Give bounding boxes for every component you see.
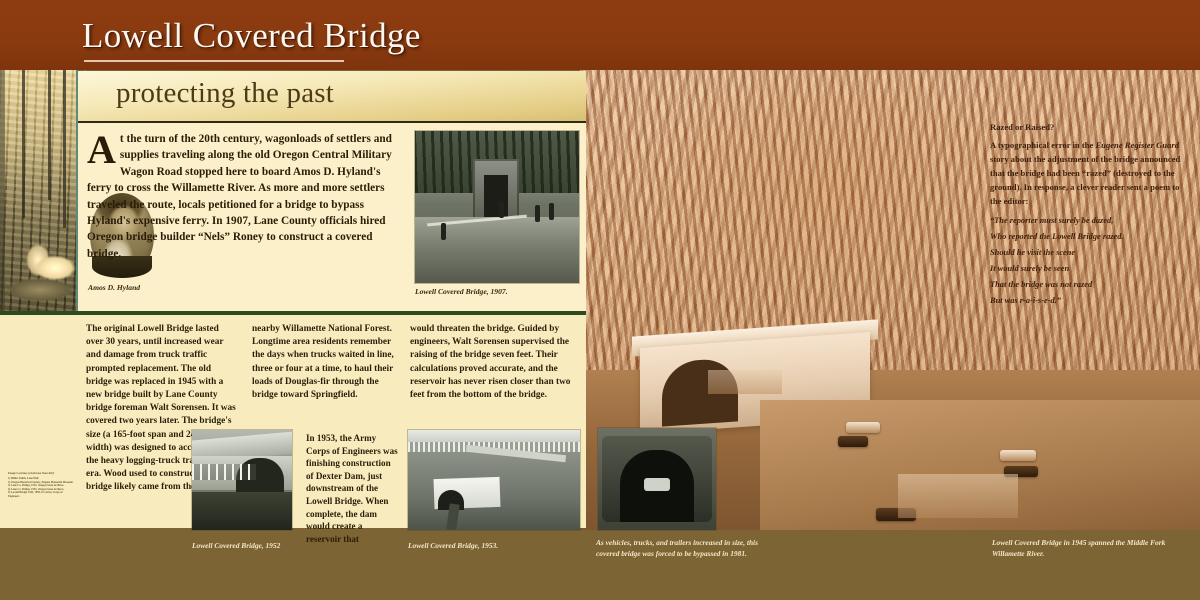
photo-1981-caption: As vehicles, trucks, and trailers increa… <box>596 538 776 559</box>
intro-paragraph: At the turn of the 20th century, wagonlo… <box>87 131 397 262</box>
poem-line: Should he visit the scene <box>990 246 1190 260</box>
subtitle: protecting the past <box>116 77 334 110</box>
poem-line: That the bridge was not razed <box>990 278 1190 292</box>
bridge-deck <box>415 217 579 283</box>
portrait-caption: Amos D. Hyland <box>88 283 140 292</box>
bridge-portal-photo-1981 <box>598 428 716 530</box>
intro-panel: At the turn of the 20th century, wagonlo… <box>78 123 586 311</box>
bridge-photo-1953 <box>408 430 580 530</box>
person-figure <box>499 201 504 218</box>
vehicle <box>846 422 880 433</box>
vehicle <box>1000 450 1036 461</box>
poem-line: But was r-a-i-s-e-d.” <box>990 294 1190 308</box>
newspaper-name: Eugene Register Guard <box>1095 140 1179 150</box>
poem-line: “The reporter must surely be dazed, <box>990 214 1190 228</box>
bridge-portal-1907 <box>473 159 519 219</box>
razed-heading: Razed or Raised? <box>990 122 1190 132</box>
credits-title: Image Courtesy (clockwise from left): <box>8 472 74 476</box>
body-column-3: would threaten the bridge. Guided by eng… <box>410 323 572 402</box>
poem-line: Who reported the Lowell Bridge razed. <box>990 230 1190 244</box>
dexter-dam-inset-text: In 1953, the Army Corps of Engineers was… <box>300 428 404 528</box>
photo-1953-caption: Lowell Covered Bridge, 1953. <box>408 541 498 550</box>
interpretive-sign-panel: Lowell Covered Bridge protecting the pas… <box>0 0 1200 600</box>
person-figure <box>535 205 540 222</box>
bridge-photo-1907 <box>415 131 579 283</box>
header-bar: Lowell Covered Bridge <box>0 0 1200 70</box>
camp-scene-photo <box>0 68 78 312</box>
reader-poem: “The reporter must surely be dazed, Who … <box>990 214 1190 308</box>
vehicle <box>838 436 868 447</box>
drop-cap: A <box>87 131 120 166</box>
building <box>898 474 1018 518</box>
bridge-railing-1952 <box>192 464 256 480</box>
photo-1907-caption: Lowell Covered Bridge, 1907. <box>415 287 508 296</box>
bridge-photo-1952 <box>192 430 292 530</box>
photo-1952-caption: Lowell Covered Bridge, 1952 <box>192 541 280 550</box>
intro-text: t the turn of the 20th century, wagonloa… <box>87 133 392 260</box>
photo-big-caption: Lowell Covered Bridge in 1945 spanned th… <box>992 538 1192 559</box>
vehicle-in-portal <box>644 478 670 491</box>
poem-line: It would surely be seen <box>990 262 1190 276</box>
subtitle-band: protecting the past <box>78 71 586 123</box>
person-figure <box>549 203 554 220</box>
person-figure <box>441 223 446 240</box>
razed-body-part2: story about the adjustment of the bridge… <box>990 154 1180 206</box>
razed-body: A typographical error in the Eugene Regi… <box>990 138 1190 208</box>
title-underline <box>84 60 344 62</box>
image-credits-block: Image Courtesy (clockwise from left): 1)… <box>8 472 74 499</box>
building <box>708 370 782 394</box>
credit-line: 5) Lowell Bridge 1945, 1958, US Army Cor… <box>8 491 74 498</box>
page-title: Lowell Covered Bridge <box>82 17 421 55</box>
body-column-2: nearby Willamette National Forest. Longt… <box>252 323 402 402</box>
razed-or-raised-panel: Razed or Raised? A typographical error i… <box>990 122 1190 310</box>
razed-body-part1: A typographical error in the <box>990 140 1095 150</box>
ground-region-1952 <box>192 492 292 530</box>
